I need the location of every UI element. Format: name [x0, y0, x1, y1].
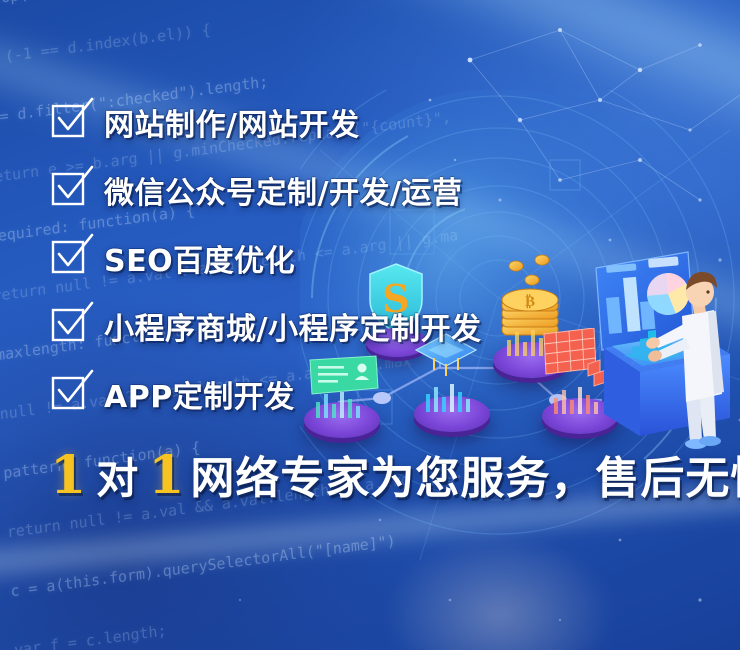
code-line: if (-1 == d.index(b.el)) {: [0, 0, 445, 68]
service-promo-banner: .prop("checked",!0),c.find("input[type=c…: [0, 0, 740, 650]
feature-label: SEO百度优化: [104, 236, 295, 280]
feature-list: 网站制作/网站开发 微信公众号定制/开发/运营 SEO百度优化: [52, 98, 712, 438]
feature-item-2[interactable]: SEO百度优化: [52, 234, 712, 282]
feature-label: 网站制作/网站开发: [104, 100, 359, 144]
feature-item-0[interactable]: 网站制作/网站开发: [52, 98, 712, 146]
feature-item-3[interactable]: 小程序商城/小程序定制开发: [52, 302, 712, 350]
feature-label: 小程序商城/小程序定制开发: [104, 304, 481, 348]
checked-checkbox-icon[interactable]: [52, 309, 86, 343]
feature-label: APP定制开发: [104, 372, 295, 416]
code-line: .prop("checked",!0),c.find("input[type=c…: [0, 0, 441, 9]
checked-checkbox-icon[interactable]: [52, 105, 86, 139]
tagline: 1 对 1 网络专家为您服务，售后无忧！: [50, 450, 740, 502]
feature-item-4[interactable]: APP定制开发: [52, 370, 712, 418]
tagline-number-first: 1: [50, 450, 86, 502]
code-line: custom: function(a, b) {: [17, 641, 484, 650]
feature-item-1[interactable]: 微信公众号定制/开发/运营: [52, 166, 712, 214]
feature-label: 微信公众号定制/开发/运营: [104, 168, 462, 212]
tagline-number-second: 1: [148, 450, 184, 502]
code-line: var f = c.length;: [14, 582, 481, 650]
tagline-word: 对: [96, 458, 138, 500]
checked-checkbox-icon[interactable]: [52, 377, 86, 411]
checked-checkbox-icon[interactable]: [52, 241, 86, 275]
checked-checkbox-icon[interactable]: [52, 173, 86, 207]
lens-flare: [370, 520, 630, 650]
code-line: c = a(this.form).querySelectorAll("[name…: [10, 523, 477, 599]
tagline-rest: 网络专家为您服务，售后无忧！: [190, 457, 740, 501]
